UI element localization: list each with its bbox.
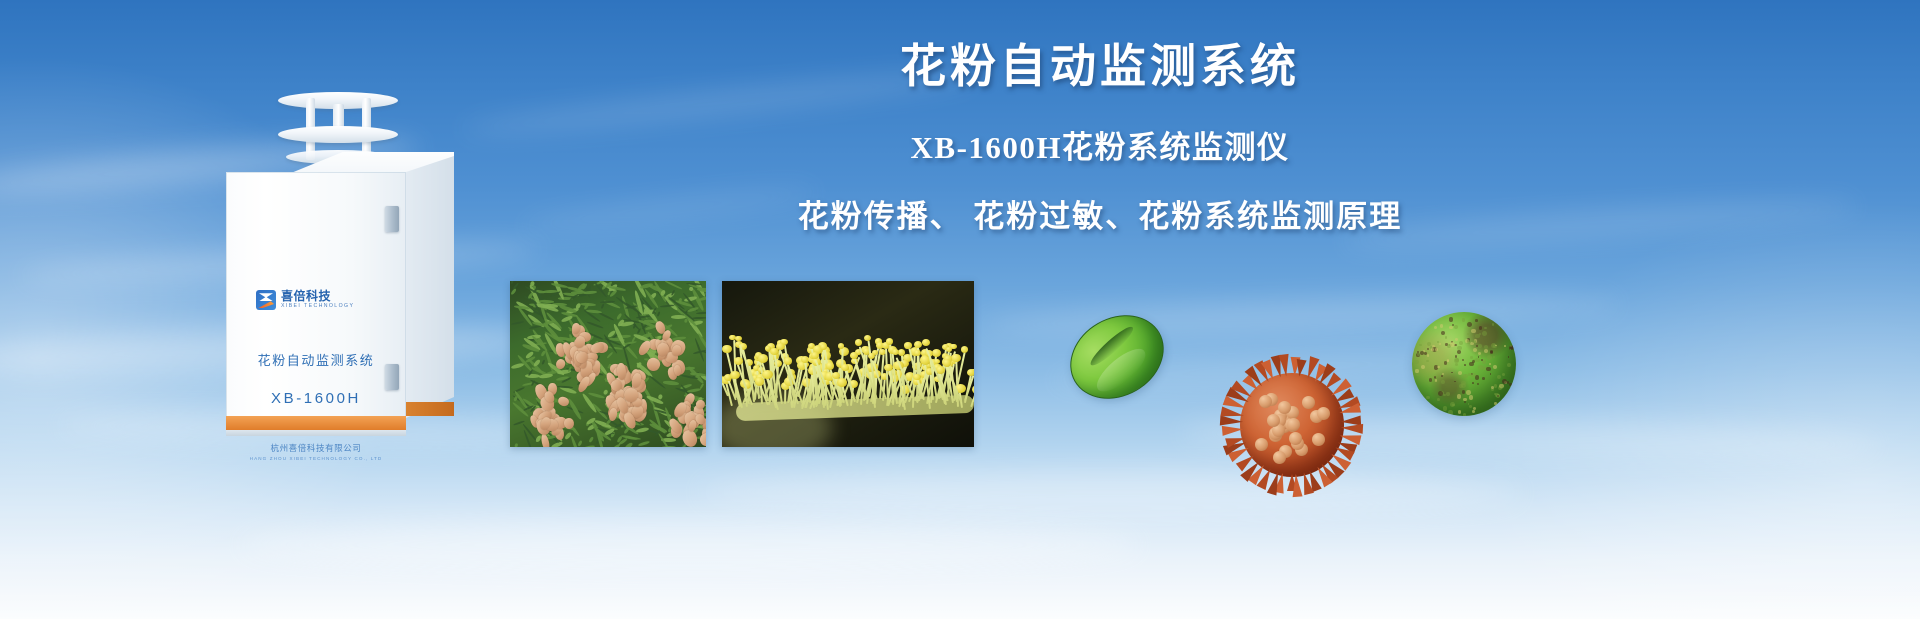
pollen-monitoring-banner: 喜倍科技 XIBEI TECHNOLOGY 花粉自动监测系统 XB-1600H … [0,0,1920,619]
cabinet-side-face [406,156,454,418]
panel-model-number: XB-1600H [226,390,406,407]
panel-company-cn: 杭州喜倍科技有限公司 [226,442,406,454]
pollen-monitoring-cabinet: 喜倍科技 XIBEI TECHNOLOGY 花粉自动监测系统 XB-1600H … [218,84,458,434]
headline-description: 花粉传播、 花粉过敏、花粉系统监测原理 [600,191,1600,236]
headline-subtitle: XB-1600H花粉系统监测仪 [600,122,1600,167]
grain-bump [1302,396,1315,409]
grain-bump [1287,418,1300,431]
xibei-logo-icon [256,290,276,310]
grain-bump [1312,433,1325,446]
grain-bump [1267,414,1280,427]
cloud-streak [240,520,1140,570]
headline-block: 花粉自动监测系统 XB-1600H花粉系统监测仪 花粉传播、 花粉过敏、花粉系统… [600,30,1600,236]
cabinet-foot [226,430,406,436]
grain-ball [1412,312,1516,416]
brand-logo: 喜倍科技 XIBEI TECHNOLOGY [256,290,354,310]
panel-product-name: 花粉自动监测系统 [226,350,406,369]
page-title: 花粉自动监测系统 [600,30,1600,96]
grain-spike [1291,473,1303,497]
grain-bump [1259,395,1272,408]
shield-disc-mid [278,126,398,143]
brand-logo-en: XIBEI TECHNOLOGY [281,303,354,311]
grain-bump [1317,407,1330,420]
cabinet-accent-strip [226,416,406,430]
cabinet-latch-bottom[interactable] [385,364,399,390]
photo-cedar-pollen-cones [510,281,706,447]
cabinet-latch-top[interactable] [385,206,399,232]
panel-company-en: HANG ZHOU XIBEI TECHNOLOGY CO., LTD [226,456,406,461]
cloud-streak [700,470,1520,514]
photo-catkin-stamens [722,281,974,447]
pollen-grain-sphere [1412,312,1516,416]
brand-logo-cn: 喜倍科技 [281,290,354,303]
pollen-grain-spiky [1222,355,1362,495]
cabinet-base-side [406,402,454,416]
cabinet-front-panel: 喜倍科技 XIBEI TECHNOLOGY 花粉自动监测系统 XB-1600H … [226,172,406,434]
